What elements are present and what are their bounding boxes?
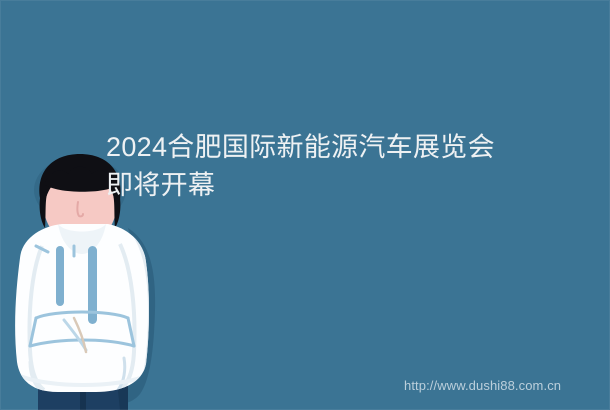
site-watermark: http://www.dushi88.com.cn [404, 378, 561, 394]
hoodie [15, 216, 160, 396]
banner-headline: 2024合肥国际新能源汽车展览会即将开幕 [106, 128, 506, 204]
promo-banner: 2024合肥国际新能源汽车展览会即将开幕 http://www.dushi88.… [0, 0, 610, 410]
